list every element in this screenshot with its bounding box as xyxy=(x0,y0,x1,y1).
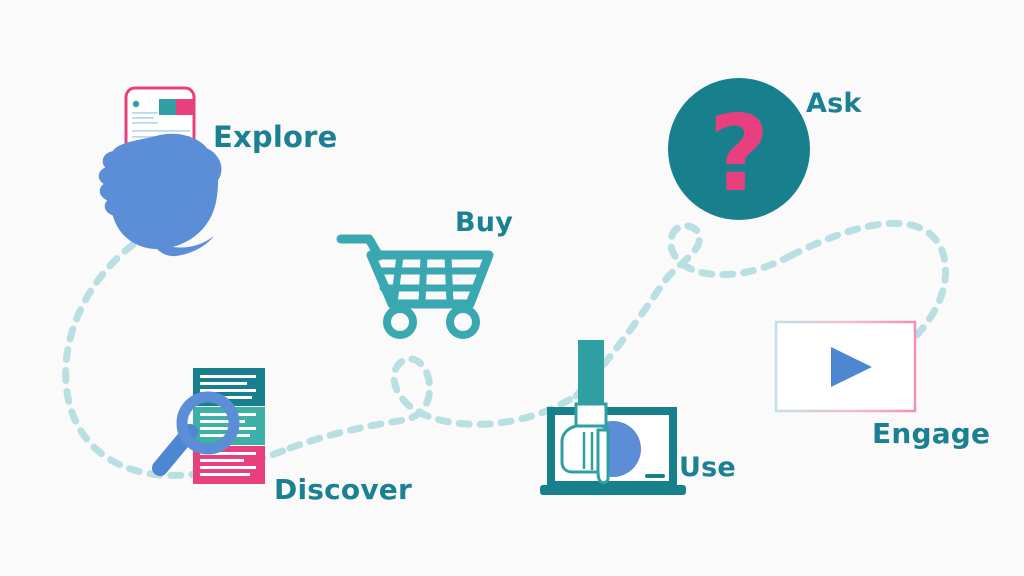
video-play-frame-icon xyxy=(776,322,915,411)
phone-text-line xyxy=(132,122,158,124)
journey-illustration: ? xyxy=(0,0,1024,576)
document-line xyxy=(200,466,256,469)
path-discover-to-use xyxy=(290,359,576,448)
shopping-cart-icon xyxy=(341,239,489,335)
step-label-discover: Discover xyxy=(274,473,412,506)
laptop-base xyxy=(540,485,686,495)
magnifier-documents-icon xyxy=(160,368,265,484)
hand-thumb xyxy=(156,145,221,194)
document-line xyxy=(200,375,256,378)
path-use-to-ask xyxy=(576,226,790,396)
phone-text-line xyxy=(132,117,154,119)
phone-dot-teal xyxy=(133,101,139,107)
phone-banner-pink xyxy=(176,99,194,115)
illustration-canvas: ? Explore Discover Buy Use Ask Engage xyxy=(0,0,1024,576)
hand-shape xyxy=(99,134,222,256)
arm-sleeve xyxy=(578,340,604,412)
step-label-use: Use xyxy=(679,452,736,483)
hand-holding-phone-icon xyxy=(99,88,222,256)
document-line xyxy=(200,459,244,462)
question-mark-glyph: ? xyxy=(709,93,770,215)
phone-text-line xyxy=(132,130,190,132)
step-label-explore: Explore xyxy=(213,120,338,154)
phone-text-line xyxy=(132,112,158,114)
phone-banner-teal xyxy=(159,99,176,115)
step-label-engage: Engage xyxy=(872,417,990,450)
step-label-buy: Buy xyxy=(455,207,513,238)
question-mark-circle-icon: ? xyxy=(668,78,810,220)
laptop-trackpad xyxy=(645,474,665,478)
laptop-hand-globe-icon xyxy=(540,340,686,495)
step-label-ask: Ask xyxy=(806,88,862,119)
document-line xyxy=(200,382,247,385)
document-line xyxy=(200,473,250,476)
